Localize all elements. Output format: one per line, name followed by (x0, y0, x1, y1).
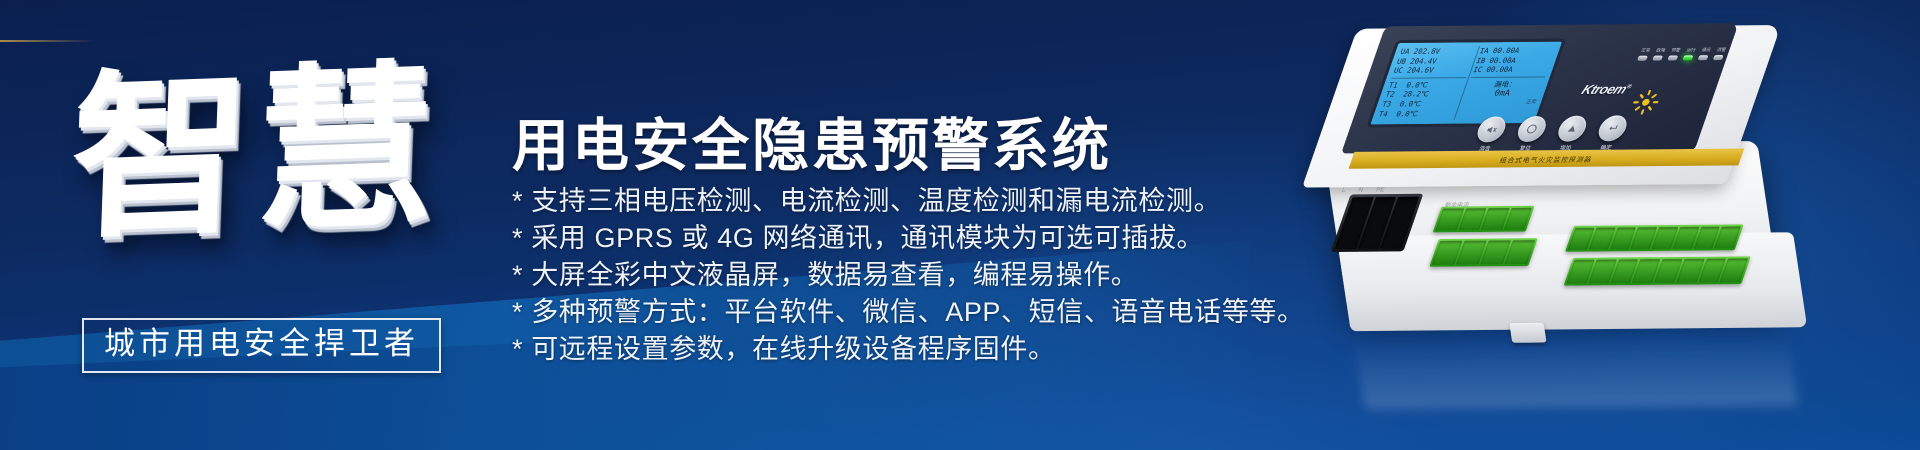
lcd-ic: IC 00.00A (1472, 65, 1550, 75)
lcd-status-corner: 正常 (1460, 98, 1538, 108)
power-terminal-label-n: N (1357, 188, 1363, 194)
lcd-uc: UC 204.6V (1392, 65, 1470, 75)
feature-list: * 支持三相电压检测、电流检测、温度检测和漏电流检测。 * 采用 GPRS 或 … (512, 183, 1305, 368)
list-item: * 支持三相电压检测、电流检测、温度检测和漏电流检测。 (512, 183, 1305, 220)
status-led-comm (1698, 55, 1709, 60)
led-label: 故障 (1654, 48, 1668, 54)
device-reflection (1354, 337, 1799, 410)
sunburst-icon (1628, 89, 1663, 115)
product-device-image: UA 202.8V UB 204.4V UC 204.6V T1 0.0℃ T2… (1269, 0, 1920, 450)
status-led-mute (1713, 55, 1724, 60)
model-label-strip: 组合式电气火灾监控探测器 (1349, 149, 1745, 169)
brand-logo: Ktroem® (1579, 82, 1633, 97)
tagline-badge: 城市用电安全捍卫者 (82, 318, 441, 373)
confirm-button[interactable]: 确定 (1595, 115, 1630, 141)
lcd-display: UA 202.8V UB 204.4V UC 204.6V T1 0.0℃ T2… (1366, 39, 1566, 128)
list-item: * 大屏全彩中文液晶屏，数据易查看，编程易操作。 (512, 257, 1305, 294)
residual-current-terminal-upper (1433, 206, 1535, 233)
lcd-t1-value: 0.0℃ (1405, 80, 1429, 89)
lcd-t1-label: T1 (1388, 80, 1400, 89)
calligraphy-title: 智慧 (67, 22, 421, 284)
led-label-row: 正常 故障 预警 运行 通讯 消警 (1638, 47, 1728, 54)
led-label: 正常 (1638, 48, 1652, 54)
lcd-t2-label: T2 (1384, 90, 1396, 99)
lcd-t2-value: 28.2℃ (1402, 90, 1431, 99)
status-led-alarm (1667, 55, 1678, 60)
temperature-terminal-upper (1565, 224, 1744, 251)
lcd-t3-label: T3 (1381, 99, 1393, 108)
power-terminal-labels: L N PE (1341, 187, 1385, 193)
led-label: 预警 (1669, 47, 1683, 53)
status-led-row (1637, 55, 1724, 61)
led-label: 消警 (1714, 47, 1728, 53)
device-front-panel: UA 202.8V UB 204.4V UC 204.6V T1 0.0℃ T2… (1341, 23, 1739, 153)
page-title: 用电安全隐患预警系统 (512, 100, 1112, 182)
button-row: 消音 复位 增加 确定 (1474, 115, 1630, 142)
led-label: 运行 (1684, 47, 1698, 53)
power-terminal-label-l: L (1341, 188, 1346, 194)
reset-button[interactable]: 复位 (1514, 116, 1549, 142)
reset-icon (1514, 116, 1549, 142)
enter-icon (1595, 115, 1630, 141)
lcd-t4-label: T4 (1378, 109, 1390, 118)
list-item: * 采用 GPRS 或 4G 网络通讯，通讯模块为可选可插拔。 (512, 220, 1305, 257)
lcd-t4-value: 0.0℃ (1395, 109, 1419, 118)
list-item: * 可远程设置参数，在线升级设备程序固件。 (512, 331, 1305, 368)
status-led-fault (1652, 56, 1663, 61)
din-rail-clip (1509, 323, 1546, 343)
status-led-normal (1637, 56, 1648, 61)
lcd-t3-value: 0.0℃ (1398, 99, 1422, 108)
increase-button[interactable]: 增加 (1555, 116, 1590, 142)
promo-banner: 智慧 城市用电安全捍卫者 用电安全隐患预警系统 * 支持三相电压检测、电流检测、… (0, 0, 1920, 450)
temperature-terminal-lower (1564, 256, 1751, 285)
list-item: * 多种预警方式：平台软件、微信、APP、短信、语音电话等等。 (512, 294, 1305, 331)
residual-current-terminal-lower (1429, 238, 1538, 267)
led-label: 通讯 (1699, 47, 1713, 53)
status-led-run (1683, 55, 1694, 60)
triangle-up-icon (1555, 116, 1590, 142)
